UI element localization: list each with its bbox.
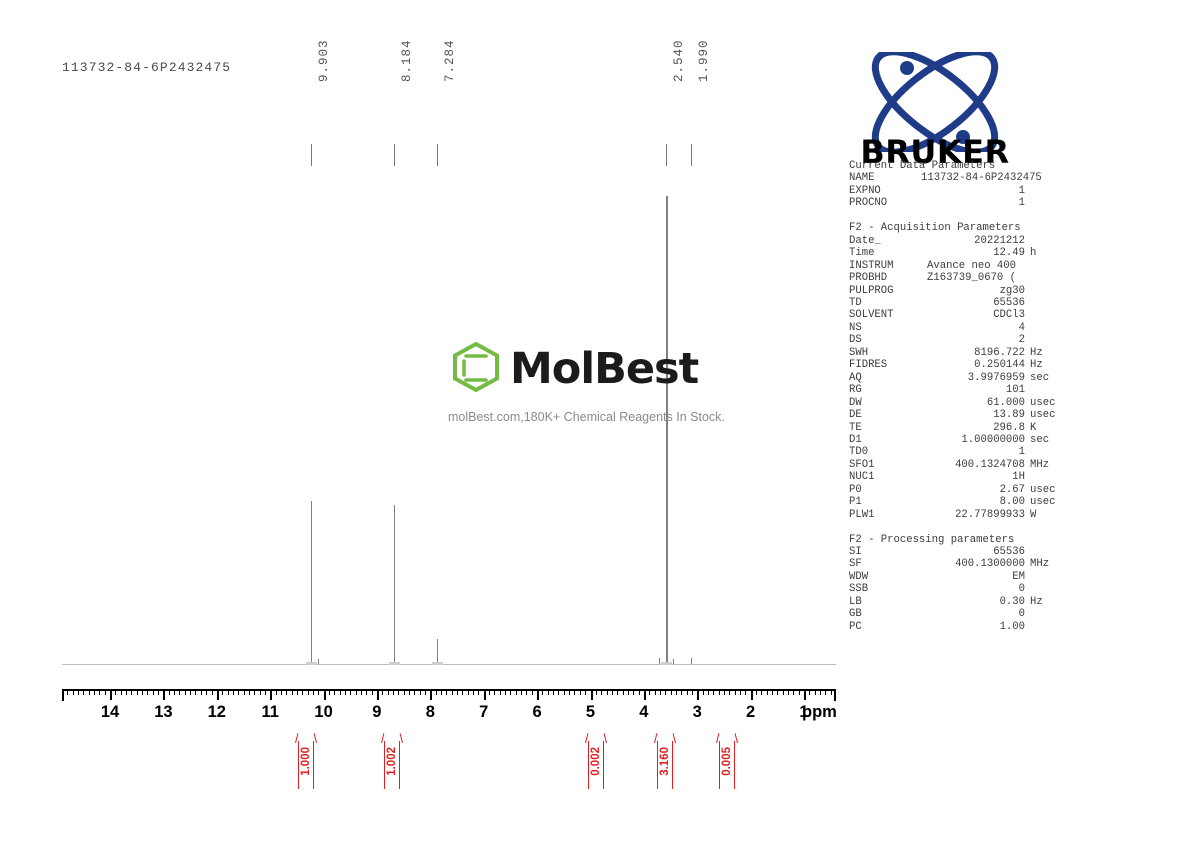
param-key: PROCNO [849, 197, 921, 209]
param-value: 400.1300000 [921, 558, 1025, 570]
axis-tick-minor [665, 689, 666, 695]
axis-tick-minor [580, 689, 581, 695]
axis-tick-minor [313, 689, 314, 695]
param-value: 0.250144 [921, 359, 1025, 371]
param-unit: sec [1025, 372, 1064, 384]
axis-tick-major [163, 689, 165, 700]
param-key: INSTRUM [849, 260, 921, 272]
integral-bracket-right [399, 741, 400, 789]
axis-tick-minor [564, 689, 565, 695]
param-value: 1H [921, 471, 1025, 483]
param-key: DE [849, 409, 921, 421]
param-row: SWH8196.722Hz [849, 347, 1064, 359]
param-value: 2.67 [921, 484, 1025, 496]
param-row: NUC11H [849, 471, 1064, 483]
spectrum-peak [318, 659, 319, 664]
axis-tick-minor [612, 689, 613, 695]
param-value: 0 [921, 583, 1025, 595]
axis-tick-minor [73, 689, 74, 695]
axis-tick-minor [617, 689, 618, 695]
axis-tick-minor [478, 689, 479, 695]
param-row: RG101 [849, 384, 1064, 396]
param-unit [1025, 334, 1064, 346]
axis-tick-minor [681, 689, 682, 695]
param-row: Time12.49h [849, 247, 1064, 259]
integral-marker: 3.160 [652, 733, 678, 789]
peak-label-value: 1.990 [697, 39, 711, 82]
param-unit [1025, 309, 1064, 321]
param-row: DE13.89usec [849, 409, 1064, 421]
axis-tick-major [537, 689, 539, 700]
axis-tick-minor [228, 689, 229, 695]
param-key: TE [849, 422, 921, 434]
axis-tick-major [377, 689, 379, 700]
axis-tick-minor [505, 689, 506, 695]
axis-tick-minor [633, 689, 634, 695]
axis-tick-label: 1 [799, 703, 808, 722]
axis-tick-minor [201, 689, 202, 695]
axis-tick-minor [388, 689, 389, 695]
param-unit [1025, 571, 1064, 583]
axis-tick-minor [532, 689, 533, 695]
param-key: GB [849, 608, 921, 620]
axis-tick-minor [793, 689, 794, 695]
param-section-heading: F2 - Processing parameters [849, 534, 1064, 546]
param-row: TD65536 [849, 297, 1064, 309]
axis-tick-minor [340, 689, 341, 695]
param-unit: usec [1025, 409, 1064, 421]
axis-tick-minor [729, 689, 730, 695]
axis-tick-minor [137, 689, 138, 695]
axis-tick-minor [494, 689, 495, 695]
param-row: DW61.000usec [849, 397, 1064, 409]
spectrum-baseline [62, 664, 836, 665]
peak-label-value: 8.184 [400, 39, 414, 82]
axis-tick-minor [542, 689, 543, 695]
axis-tick-minor [596, 689, 597, 695]
param-row: LB0.30Hz [849, 596, 1064, 608]
axis-tick-minor [446, 689, 447, 695]
param-unit [1025, 608, 1064, 620]
axis-tick-minor [687, 689, 688, 695]
axis-tick-label: 9 [372, 703, 381, 722]
axis-tick-minor [281, 689, 282, 695]
axis-tick-minor [436, 689, 437, 695]
axis-tick-minor [713, 689, 714, 695]
spectrum-trace [62, 170, 836, 665]
axis-tick-minor [414, 689, 415, 695]
param-section-gap [849, 521, 1064, 533]
peak-foot [661, 662, 672, 665]
axis-tick-label: 4 [639, 703, 648, 722]
spectrum-peak [437, 639, 438, 664]
param-key: PC [849, 621, 921, 633]
axis-tick-minor [607, 689, 608, 695]
axis-tick-minor [212, 689, 213, 695]
axis-tick-minor [639, 689, 640, 695]
peak-foot [306, 662, 317, 665]
param-row: SOLVENTCDCl3 [849, 309, 1064, 321]
param-row: SF400.1300000MHz [849, 558, 1064, 570]
axis-tick-major [324, 689, 326, 700]
axis-tick-minor [724, 689, 725, 695]
axis-tick-minor [260, 689, 261, 695]
param-row: EXPNO1 [849, 185, 1064, 197]
param-row: PLW122.77899933W [849, 509, 1064, 521]
bruker-logo: BRUKER [845, 52, 1025, 152]
axis-tick-minor [147, 689, 148, 695]
axis-tick-major [697, 689, 699, 700]
param-key: Time [849, 247, 921, 259]
axis-tick-minor [356, 689, 357, 695]
axis-tick-label: 6 [533, 703, 542, 722]
axis-tick-minor [831, 689, 832, 695]
axis-tick-minor [703, 689, 704, 695]
axis-tick-minor [756, 689, 757, 695]
axis-tick-minor [521, 689, 522, 695]
param-value: zg30 [921, 285, 1025, 297]
axis-tick-minor [195, 689, 196, 695]
param-unit [1025, 621, 1064, 633]
param-unit [1025, 546, 1064, 558]
axis-tick-minor [404, 689, 405, 695]
axis-tick-label: 11 [261, 703, 278, 722]
axis-endcap [834, 689, 836, 701]
param-unit: Hz [1025, 359, 1064, 371]
param-row: DS2 [849, 334, 1064, 346]
axis-tick-minor [393, 689, 394, 695]
param-key: TD [849, 297, 921, 309]
param-unit [1025, 322, 1064, 334]
axis-tick-minor [655, 689, 656, 695]
param-row: D11.00000000sec [849, 434, 1064, 446]
param-key: AQ [849, 372, 921, 384]
param-unit [1025, 272, 1064, 284]
axis-tick-minor [345, 689, 346, 695]
param-value: 1 [921, 446, 1025, 458]
axis-tick-minor [233, 689, 234, 695]
axis-tick-label: 8 [426, 703, 435, 722]
param-value: 101 [921, 384, 1025, 396]
param-key: SWH [849, 347, 921, 359]
param-row: SI65536 [849, 546, 1064, 558]
param-unit: W [1025, 509, 1064, 521]
param-unit [1025, 384, 1064, 396]
param-row: NAME113732-84-6P2432475 [849, 172, 1064, 184]
param-value: 0.30 [921, 596, 1025, 608]
axis-tick-minor [297, 689, 298, 695]
axis-tick-minor [350, 689, 351, 695]
param-key: PULPROG [849, 285, 921, 297]
param-key: PLW1 [849, 509, 921, 521]
param-value: EM [921, 571, 1025, 583]
param-value: 61.000 [921, 397, 1025, 409]
integral-marker: 0.002 [583, 733, 609, 789]
param-value: 1.00 [921, 621, 1025, 633]
axis-tick-minor [276, 689, 277, 695]
axis-tick-minor [676, 689, 677, 695]
axis-tick-minor [67, 689, 68, 695]
param-value: 296.8 [921, 422, 1025, 434]
axis-tick-minor [719, 689, 720, 695]
axis-tick-minor [569, 689, 570, 695]
axis-tick-minor [286, 689, 287, 695]
integral-marker: 1.000 [293, 733, 319, 789]
parameter-table: Current Data ParametersNAME113732-84-6P2… [849, 160, 1064, 633]
param-section-heading: F2 - Acquisition Parameters [849, 222, 1064, 234]
param-unit: Hz [1025, 596, 1064, 608]
axis-tick-minor [244, 689, 245, 695]
param-row: WDWEM [849, 571, 1064, 583]
integral-group: 1.0001.0020.0023.1600.005 [62, 733, 836, 793]
param-row: PROBHDZ163739_0670 ( [849, 272, 1064, 284]
axis-tick-minor [660, 689, 661, 695]
axis-tick-minor [115, 689, 116, 695]
param-key: D1 [849, 434, 921, 446]
axis-tick-minor [382, 689, 383, 695]
axis-tick-minor [740, 689, 741, 695]
axis-tick-label: 5 [586, 703, 595, 722]
axis-tick-minor [206, 689, 207, 695]
integral-value: 0.002 [590, 747, 602, 776]
param-value: CDCl3 [921, 309, 1025, 321]
axis-tick-minor [526, 689, 527, 695]
axis-tick-minor [473, 689, 474, 695]
param-value: Z163739_0670 ( [921, 272, 1025, 284]
param-row: TE296.8K [849, 422, 1064, 434]
integral-marker: 1.002 [379, 733, 405, 789]
axis-tick-minor [825, 689, 826, 695]
axis-tick-minor [468, 689, 469, 695]
nmr-spectrum-page: 113732-84-6P2432475 9.9038.1847.2842.540… [0, 0, 1190, 842]
peak-label-tick [691, 144, 692, 166]
param-value: 65536 [921, 546, 1025, 558]
axis-tick-minor [99, 689, 100, 695]
param-unit: usec [1025, 397, 1064, 409]
axis-tick-minor [179, 689, 180, 695]
param-row: P18.00usec [849, 496, 1064, 508]
integral-bracket-right [672, 741, 673, 789]
axis-tick-minor [83, 689, 84, 695]
axis-tick-minor [409, 689, 410, 695]
axis-tick-minor [222, 689, 223, 695]
param-row: Date_20221212 [849, 235, 1064, 247]
param-value: 3.9976959 [921, 372, 1025, 384]
peak-label-tick [437, 144, 438, 166]
param-row: PC1.00 [849, 621, 1064, 633]
param-row: FIDRES0.250144Hz [849, 359, 1064, 371]
param-value: Avance neo 400 [921, 260, 1025, 272]
axis-tick-minor [772, 689, 773, 695]
axis-line [62, 689, 836, 691]
param-value: 4 [921, 322, 1025, 334]
param-row: P02.67usec [849, 484, 1064, 496]
axis-tick-minor [708, 689, 709, 695]
axis-tick-major [270, 689, 272, 700]
axis-tick-minor [190, 689, 191, 695]
param-value: 113732-84-6P2432475 [921, 172, 1042, 184]
axis-tick-minor [649, 689, 650, 695]
param-unit: h [1025, 247, 1064, 259]
spectrum-peak [659, 658, 660, 664]
spectrum-peak [311, 501, 312, 664]
integral-bracket-right [313, 741, 314, 789]
param-key: NS [849, 322, 921, 334]
axis-tick-minor [249, 689, 250, 695]
axis-tick-minor [265, 689, 266, 695]
axis-tick-minor [788, 689, 789, 695]
axis-tick-minor [558, 689, 559, 695]
axis-tick-minor [158, 689, 159, 695]
axis-tick-minor [452, 689, 453, 695]
axis-tick-minor [185, 689, 186, 695]
axis-tick-minor [585, 689, 586, 695]
axis-tick-minor [820, 689, 821, 695]
axis-tick-minor [361, 689, 362, 695]
param-value: 20221212 [921, 235, 1025, 247]
param-unit [1025, 471, 1064, 483]
param-key: NUC1 [849, 471, 921, 483]
axis-tick-minor [574, 689, 575, 695]
param-row: PULPROGzg30 [849, 285, 1064, 297]
param-key: WDW [849, 571, 921, 583]
param-unit [1025, 583, 1064, 595]
param-unit [1042, 172, 1081, 184]
param-value: 400.1324708 [921, 459, 1025, 471]
axis-tick-minor [441, 689, 442, 695]
axis-tick-minor [420, 689, 421, 695]
axis-tick-minor [121, 689, 122, 695]
param-key: P0 [849, 484, 921, 496]
axis-tick-minor [489, 689, 490, 695]
axis-tick-minor [553, 689, 554, 695]
param-key: SSB [849, 583, 921, 595]
param-unit [1025, 197, 1064, 209]
axis-tick-minor [131, 689, 132, 695]
peak-label-value: 9.903 [317, 39, 331, 82]
param-value: 1.00000000 [921, 434, 1025, 446]
param-key: DS [849, 334, 921, 346]
axis-tick-minor [809, 689, 810, 695]
axis-tick-minor [783, 689, 784, 695]
axis-tick-label: 2 [746, 703, 755, 722]
param-unit: K [1025, 422, 1064, 434]
axis-tick-minor [462, 689, 463, 695]
axis-tick-major [110, 689, 112, 700]
ppm-axis: ppm 1413121110987654321 [62, 689, 836, 739]
peak-foot [432, 662, 443, 665]
axis-tick-minor [799, 689, 800, 695]
peak-label-tick [666, 144, 667, 166]
param-key: SOLVENT [849, 309, 921, 321]
axis-tick-minor [366, 689, 367, 695]
axis-tick-label: 12 [208, 703, 226, 722]
axis-tick-minor [815, 689, 816, 695]
peak-label-tick [394, 144, 395, 166]
peak-foot [389, 662, 400, 665]
spectrum-peak [394, 505, 395, 664]
param-value: 65536 [921, 297, 1025, 309]
axis-tick-major [217, 689, 219, 700]
axis-tick-minor [302, 689, 303, 695]
param-value: 13.89 [921, 409, 1025, 421]
axis-tick-minor [78, 689, 79, 695]
peak-label-value: 7.284 [443, 39, 457, 82]
param-value: 1 [921, 185, 1025, 197]
axis-tick-minor [169, 689, 170, 695]
axis-tick-minor [292, 689, 293, 695]
param-value: 2 [921, 334, 1025, 346]
axis-tick-major [644, 689, 646, 700]
param-unit [1025, 185, 1064, 197]
integral-value: 3.160 [659, 747, 671, 776]
param-value: 0 [921, 608, 1025, 620]
integral-bracket-right [603, 741, 604, 789]
param-key: SF [849, 558, 921, 570]
param-key: FIDRES [849, 359, 921, 371]
param-row: TD01 [849, 446, 1064, 458]
param-unit: MHz [1025, 459, 1064, 471]
axis-tick-minor [777, 689, 778, 695]
axis-tick-minor [105, 689, 106, 695]
param-row: SSB0 [849, 583, 1064, 595]
param-key: Date_ [849, 235, 921, 247]
axis-tick-minor [126, 689, 127, 695]
param-value: 8.00 [921, 496, 1025, 508]
param-unit: usec [1025, 496, 1064, 508]
param-key: RG [849, 384, 921, 396]
axis-tick-minor [745, 689, 746, 695]
param-section-gap [849, 210, 1064, 222]
axis-tick-label: 10 [314, 703, 332, 722]
param-unit: Hz [1025, 347, 1064, 359]
param-unit: usec [1025, 484, 1064, 496]
integral-marker: 0.005 [714, 733, 740, 789]
axis-tick-minor [398, 689, 399, 695]
axis-tick-minor [334, 689, 335, 695]
param-key: P1 [849, 496, 921, 508]
param-value: 22.77899933 [921, 509, 1025, 521]
axis-tick-minor [174, 689, 175, 695]
axis-tick-minor [94, 689, 95, 695]
param-row: AQ3.9976959sec [849, 372, 1064, 384]
integral-bracket-right [734, 741, 735, 789]
axis-endcap [62, 689, 64, 701]
axis-tick-minor [671, 689, 672, 695]
axis-tick-minor [500, 689, 501, 695]
axis-tick-minor [761, 689, 762, 695]
param-key: DW [849, 397, 921, 409]
axis-tick-minor [238, 689, 239, 695]
axis-tick-minor [457, 689, 458, 695]
axis-tick-minor [372, 689, 373, 695]
param-key: SI [849, 546, 921, 558]
param-key: NAME [849, 172, 921, 184]
param-row: NS4 [849, 322, 1064, 334]
param-key: TD0 [849, 446, 921, 458]
param-row: INSTRUMAvance neo 400 [849, 260, 1064, 272]
axis-tick-minor [318, 689, 319, 695]
axis-tick-major [484, 689, 486, 700]
axis-tick-minor [692, 689, 693, 695]
param-unit [1025, 260, 1064, 272]
axis-tick-minor [254, 689, 255, 695]
param-unit: MHz [1025, 558, 1064, 570]
param-unit: sec [1025, 434, 1064, 446]
integral-value: 1.000 [300, 747, 312, 776]
param-row: PROCNO1 [849, 197, 1064, 209]
axis-tick-minor [510, 689, 511, 695]
